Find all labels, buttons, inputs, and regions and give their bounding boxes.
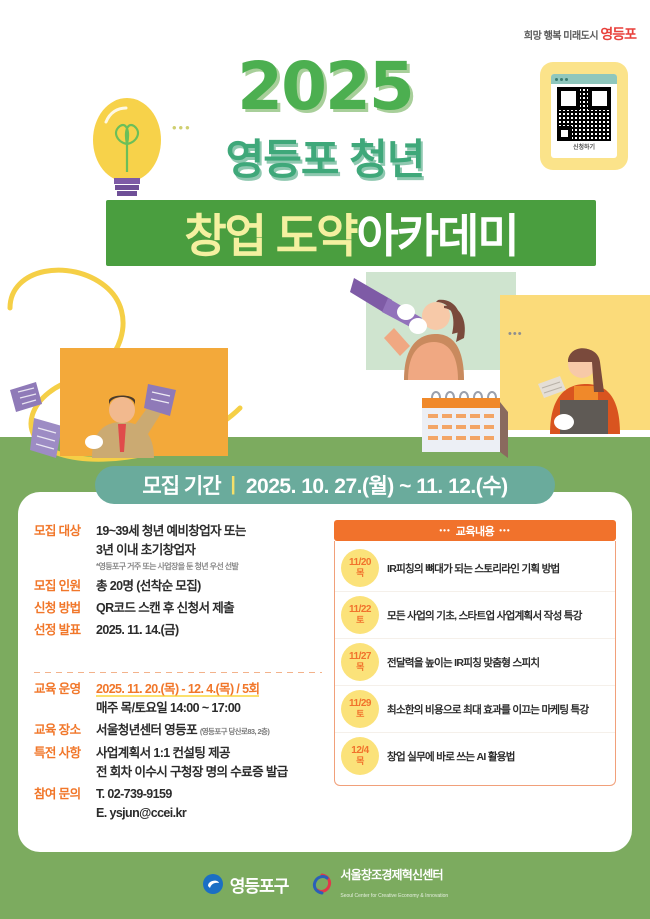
info-value-announcement: 2025. 11. 14.(금) [96,621,179,640]
curriculum-rows: 11/20 목 IR피칭의 뼈대가 되는 스토리라인 기획 방법 11/22 토… [334,541,616,786]
info-row-target: 모집 대상 19~39세 청년 예비창업자 또는 3년 이내 초기창업자 *영등… [34,522,330,574]
curriculum-date: 12/4 [351,745,368,756]
info-row-schedule: 교육 운영 2025. 11. 20.(목) - 12. 4.(목) / 5회 … [34,680,330,718]
info-value-schedule: 2025. 11. 20.(목) - 12. 4.(목) / 5회 매주 목/토… [96,680,259,718]
curriculum-date-badge: 11/20 목 [341,549,379,587]
contact-email[interactable]: E. ysjun@ccei.kr [96,804,186,823]
curriculum-row: 11/22 토 모든 사업의 기초, 스타트업 사업계획서 작성 특강 [335,592,615,639]
qr-window-titlebar [551,74,617,84]
curriculum-dots-right: ••• [499,526,510,535]
info-row-apply-method: 신청 방법 QR코드 스캔 후 신청서 제출 [34,599,330,618]
info-row-venue: 교육 장소 서울청년센터 영등포 (영등포구 당산로83, 2층) [34,721,330,741]
info-label-venue: 교육 장소 [34,721,96,740]
calendar-illustration [418,382,510,458]
curriculum-panel: ••• 교육내용 ••• 11/20 목 IR피칭의 뼈대가 되는 스토리라인 … [334,520,616,786]
qr-code-card[interactable]: 신청하기 [540,62,628,170]
qr-code-image[interactable] [557,87,611,141]
curriculum-date-badge: 12/4 목 [341,737,379,775]
curriculum-date: 11/29 [349,698,371,709]
curriculum-header: ••• 교육내용 ••• [334,520,616,541]
footer-org2-block: 서울창조경제혁신센터 Seoul Center for Creative Eco… [340,866,448,902]
person-with-document-illustration [72,378,194,458]
person-with-tablet-illustration [520,330,632,434]
ccei-mark-icon [310,872,334,896]
info-label-contact: 참여 문의 [34,785,96,804]
poster-root: 희망 행복 미래도시 영등포 ••• 2025 영등포 청년 창업 도약 아카데… [0,0,650,919]
qr-dot-icon [560,78,563,81]
curriculum-date: 11/22 [349,604,371,615]
target-note: *영등포구 거주 또는 사업장을 둔 청년 우선 선발 [96,560,246,574]
curriculum-day: 목 [356,756,364,767]
yeongdeungpo-mark-icon [202,873,224,895]
curriculum-day: 목 [356,568,364,579]
banner-text-primary: 창업 도약 [184,200,356,266]
qr-dot-icon [565,78,568,81]
schedule-time: 매주 목/토요일 14:00 ~ 17:00 [96,699,259,718]
target-line-2: 3년 이내 초기창업자 [96,541,246,560]
curriculum-topic: 창업 실무에 바로 쓰는 AI 활용법 [387,749,515,764]
brand-name: 영등포 [600,26,636,42]
footer-org2-name: 서울창조경제혁신센터 [340,868,442,882]
curriculum-row: 12/4 목 창업 실무에 바로 쓰는 AI 활용법 [335,733,615,779]
banner-text-secondary: 아카데미 [356,200,517,266]
venue-name: 서울청년센터 영등포 [96,723,197,737]
info-label-target: 모집 대상 [34,522,96,541]
benefit-line-2: 전 회차 이수시 구청장 명의 수료증 발급 [96,763,288,782]
info-row-capacity: 모집 인원 총 20명 (선착순 모집) [34,577,330,596]
curriculum-topic: 전달력을 높이는 IR피칭 맞춤형 스피치 [387,655,539,670]
info-label-announcement: 선정 발표 [34,621,96,640]
footer-logo-yeongdeungpo: 영등포구 [202,872,289,897]
qr-code-label: 신청하기 [551,142,617,151]
curriculum-row: 11/27 목 전달력을 높이는 IR피칭 맞춤형 스피치 [335,639,615,686]
curriculum-row: 11/20 목 IR피칭의 뼈대가 되는 스토리라인 기획 방법 [335,545,615,592]
footer-logo-ccei: 서울창조경제혁신센터 Seoul Center for Creative Eco… [310,866,448,902]
info-row-announcement: 선정 발표 2025. 11. 14.(금) [34,621,330,640]
curriculum-date: 11/27 [349,651,371,662]
title-banner: 창업 도약 아카데미 [106,200,596,266]
info-row-contact: 참여 문의 T. 02-739-9159 E. ysjun@ccei.kr [34,785,330,823]
schedule-highlight-wrap: 2025. 11. 20.(목) - 12. 4.(목) / 5회 [96,680,259,699]
curriculum-row: 11/29 토 최소한의 비용으로 최대 효과를 이끄는 마케팅 특강 [335,686,615,733]
info-label-apply-method: 신청 방법 [34,599,96,618]
footer-logos: 영등포구 서울창조경제혁신센터 Seoul Center for Creativ… [0,866,650,902]
info-label-benefits: 특전 사항 [34,744,96,763]
curriculum-topic: 모든 사업의 기초, 스타트업 사업계획서 작성 특강 [387,608,582,623]
curriculum-date-badge: 11/27 목 [341,643,379,681]
qr-dot-icon [555,78,558,81]
period-label: 모집 기간 [142,470,220,500]
curriculum-day: 토 [356,709,364,720]
curriculum-dots-left: ••• [439,526,450,535]
brand-tagline: 희망 행복 미래도시 [524,31,598,42]
curriculum-day: 토 [356,615,364,626]
contact-phone[interactable]: T. 02-739-9159 [96,785,186,804]
period-separator: | [231,474,236,496]
info-value-capacity: 총 20명 (선착순 모집) [96,577,201,596]
curriculum-topic: IR피칭의 뼈대가 되는 스토리라인 기획 방법 [387,561,560,576]
curriculum-topic: 최소한의 비용으로 최대 효과를 이끄는 마케팅 특강 [387,702,588,717]
recruitment-period-banner: 모집 기간 | 2025. 10. 27.(월) ~ 11. 12.(수) [95,466,555,504]
footer-org1-name: 영등포구 [230,872,289,897]
info-value-benefits: 사업계획서 1:1 컨설팅 제공 전 회차 이수시 구청장 명의 수료증 발급 [96,744,288,782]
yeongdeungpo-brand-logo: 희망 행복 미래도시 영등포 [524,24,636,44]
info-value-apply-method: QR코드 스캔 후 신청서 제출 [96,599,234,618]
schedule-dates: 2025. 11. 20.(목) - 12. 4.(목) / 5회 [96,682,259,697]
target-line-1: 19~39세 청년 예비창업자 또는 [96,522,246,541]
footer-org2-subname: Seoul Center for Creative Economy & Inno… [340,893,448,899]
info-row-benefits: 특전 사항 사업계획서 1:1 컨설팅 제공 전 회차 이수시 구청장 명의 수… [34,744,330,782]
curriculum-day: 목 [356,662,364,673]
benefit-line-1: 사업계획서 1:1 컨설팅 제공 [96,744,288,763]
curriculum-title: 교육내용 [456,523,494,539]
qr-card-inner: 신청하기 [551,74,617,158]
curriculum-date-badge: 11/29 토 [341,690,379,728]
info-value-target: 19~39세 청년 예비창업자 또는 3년 이내 초기창업자 *영등포구 거주 … [96,522,246,574]
info-divider [34,672,322,673]
program-info-list: 교육 운영 2025. 11. 20.(목) - 12. 4.(목) / 5회 … [34,680,330,826]
recruitment-info-list: 모집 대상 19~39세 청년 예비창업자 또는 3년 이내 초기창업자 *영등… [34,522,330,643]
venue-address: (영등포구 당산로83, 2층) [200,727,269,736]
curriculum-date: 11/20 [349,557,371,568]
info-value-contact: T. 02-739-9159 E. ysjun@ccei.kr [96,785,186,823]
info-label-capacity: 모집 인원 [34,577,96,596]
curriculum-date-badge: 11/22 토 [341,596,379,634]
person-with-telescope-illustration [348,272,480,380]
lightbulb-illustration [84,92,170,202]
period-value: 2025. 10. 27.(월) ~ 11. 12.(수) [246,470,508,500]
info-value-venue: 서울청년센터 영등포 (영등포구 당산로83, 2층) [96,721,269,741]
info-label-schedule: 교육 운영 [34,680,96,699]
